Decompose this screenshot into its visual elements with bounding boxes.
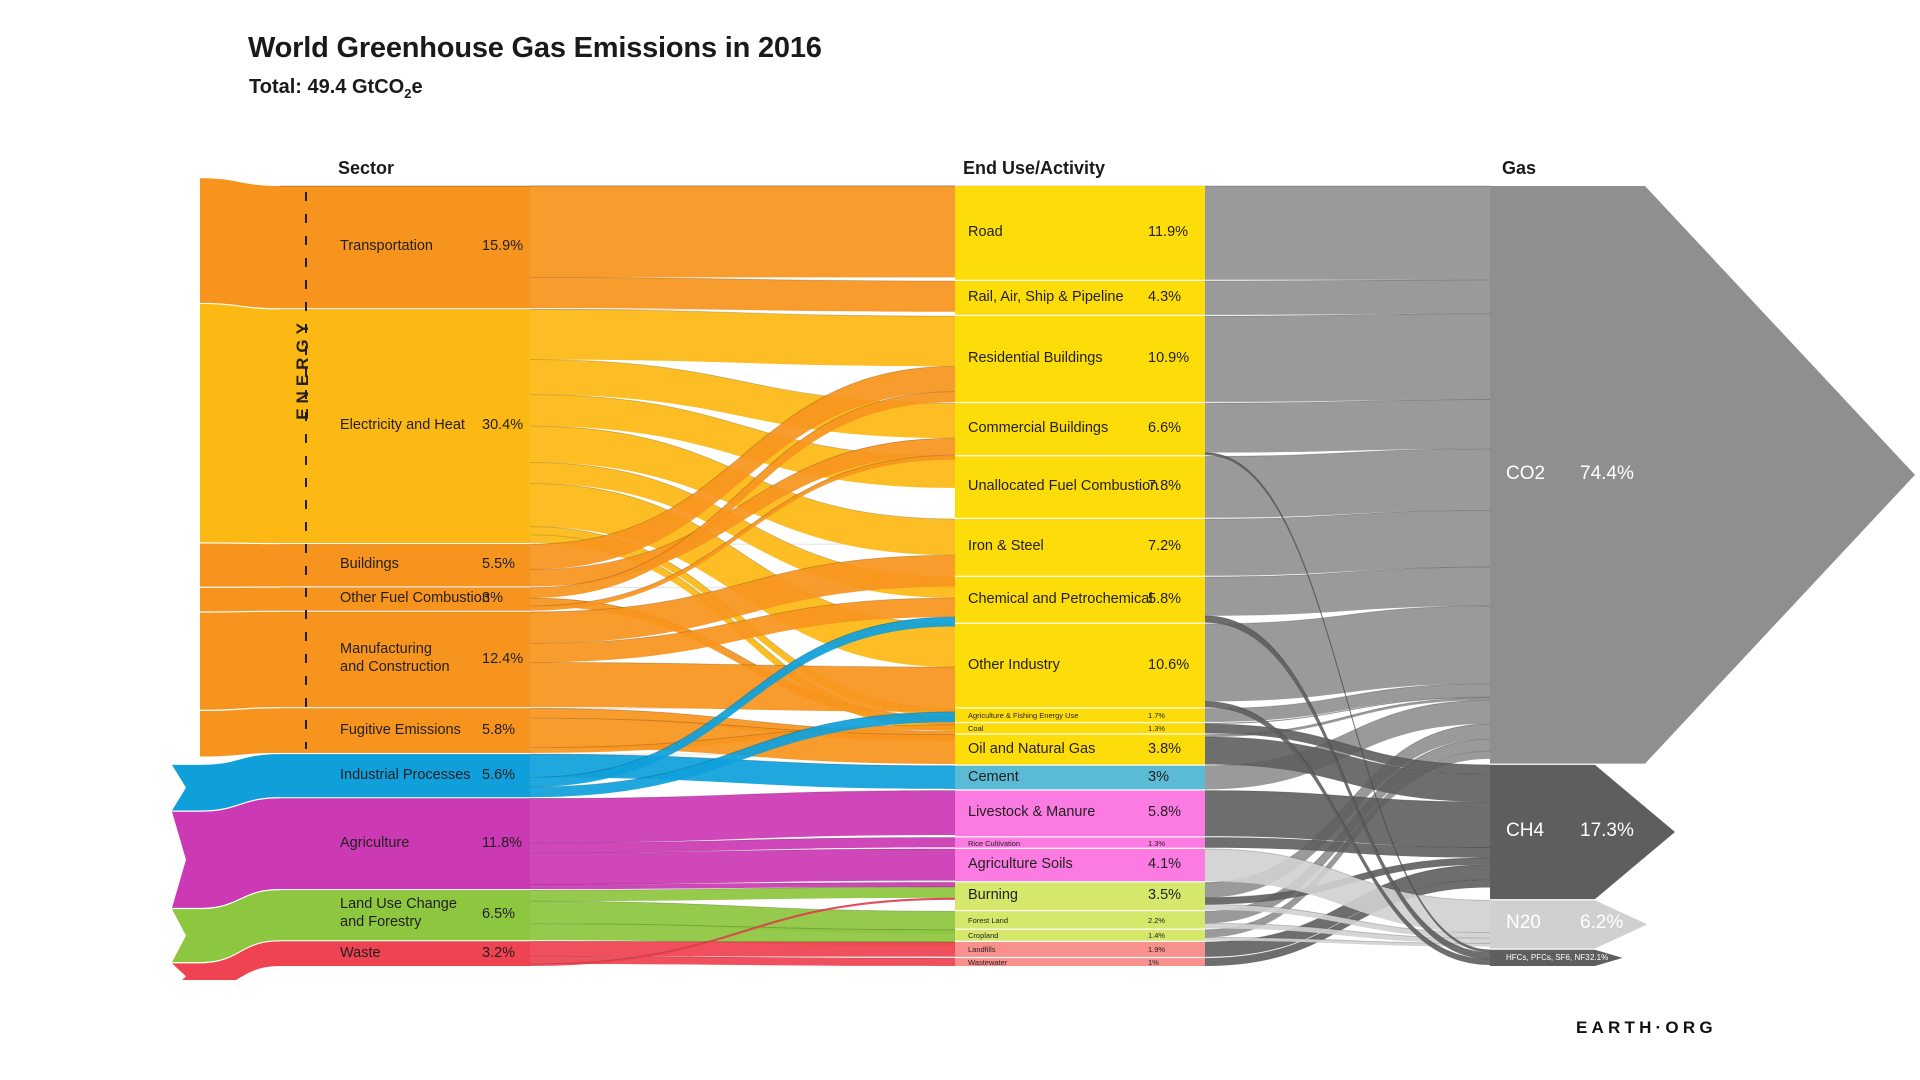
enduse-label-11: Cement: [968, 769, 1019, 785]
sector-label-7: Agriculture: [340, 835, 409, 851]
enduse-label-7: Other Industry: [968, 657, 1060, 673]
enduse-label-14: Agriculture Soils: [968, 856, 1073, 872]
energy-group-label: ENERGY: [293, 318, 313, 420]
sector-label-2: Buildings: [340, 556, 399, 572]
enduse-pct-5: 7.2%: [1148, 538, 1181, 554]
enduse-pct-2: 10.9%: [1148, 350, 1189, 366]
gas-label-0: CO2: [1506, 463, 1545, 485]
enduse-label-18: Landfills: [968, 945, 996, 954]
sankey-infographic: World Greenhouse Gas Emissions in 2016 T…: [0, 0, 1920, 1080]
sector-pct-3: 3%: [482, 590, 503, 606]
enduse-label-8: Agriculture & Fishing Energy Use: [968, 711, 1078, 720]
enduse-pct-14: 4.1%: [1148, 856, 1181, 872]
enduse-pct-11: 3%: [1148, 769, 1169, 785]
sector-label-8: Land Use Change: [340, 896, 457, 912]
gas-pct-1: 17.3%: [1580, 820, 1634, 842]
enduse-pct-8: 1.7%: [1148, 711, 1165, 720]
enduse-label-1: Rail, Air, Ship & Pipeline: [968, 289, 1124, 305]
enduse-pct-7: 10.6%: [1148, 657, 1189, 673]
enduse-pct-16: 2.2%: [1148, 916, 1165, 925]
sector-label-4: Manufacturing: [340, 641, 432, 657]
gas-pct-3: 2.1%: [1590, 953, 1608, 962]
enduse-label-5: Iron & Steel: [968, 538, 1044, 554]
sector-pct-1: 30.4%: [482, 417, 523, 433]
enduse-pct-4: 7.8%: [1148, 478, 1181, 494]
enduse-label-12: Livestock & Manure: [968, 804, 1095, 820]
enduse-label-4: Unallocated Fuel Combustion: [968, 478, 1158, 494]
earth-org-logo: EARTH·ORG: [1576, 1018, 1717, 1038]
sector-pct-8: 6.5%: [482, 906, 515, 922]
enduse-pct-6: 5.8%: [1148, 591, 1181, 607]
enduse-label-16: Forest Land: [968, 916, 1008, 925]
enduse-label-19: Wastewater: [968, 958, 1007, 967]
enduse-pct-19: 1%: [1148, 958, 1159, 967]
enduse-pct-3: 6.6%: [1148, 420, 1181, 436]
enduse-pct-10: 3.8%: [1148, 741, 1181, 757]
enduse-pct-0: 11.9%: [1148, 224, 1188, 240]
enduse-pct-15: 3.5%: [1148, 887, 1181, 903]
gas-pct-2: 6.2%: [1580, 912, 1623, 934]
sector-label-9: Waste: [340, 945, 381, 961]
sector-label-1: Electricity and Heat: [340, 417, 465, 433]
enduse-pct-18: 1.9%: [1148, 945, 1165, 954]
enduse-label-6: Chemical and Petrochemical: [968, 591, 1153, 607]
enduse-pct-17: 1.4%: [1148, 931, 1165, 940]
sector-label-0: Transportation: [340, 238, 433, 254]
gas-pct-0: 74.4%: [1580, 463, 1634, 485]
sector-pct-6: 5.6%: [482, 767, 515, 783]
sector-label2-4: and Construction: [340, 659, 450, 675]
enduse-label-13: Rice Cultivation: [968, 839, 1020, 848]
enduse-pct-13: 1.3%: [1148, 839, 1165, 848]
gas-label-2: N20: [1506, 912, 1541, 934]
sector-pct-7: 11.8%: [482, 835, 522, 851]
enduse-pct-12: 5.8%: [1148, 804, 1181, 820]
sector-pct-2: 5.5%: [482, 556, 515, 572]
sector-label-6: Industrial Processes: [340, 767, 471, 783]
sector-label2-8: and Forestry: [340, 914, 421, 930]
enduse-label-9: Coal: [968, 724, 983, 733]
enduse-label-10: Oil and Natural Gas: [968, 741, 1095, 757]
gas-label-3: HFCs, PFCs, SF6, NF3: [1506, 953, 1590, 962]
sector-label-5: Fugitive Emissions: [340, 722, 461, 738]
enduse-label-15: Burning: [968, 887, 1018, 903]
enduse-label-3: Commercial Buildings: [968, 420, 1108, 436]
sector-pct-4: 12.4%: [482, 651, 523, 667]
enduse-pct-1: 4.3%: [1148, 289, 1181, 305]
sector-label-3: Other Fuel Combustion: [340, 590, 490, 606]
gas-label-1: CH4: [1506, 820, 1544, 842]
enduse-label-0: Road: [968, 224, 1003, 240]
sector-pct-9: 3.2%: [482, 945, 515, 961]
sector-pct-0: 15.9%: [482, 238, 523, 254]
sector-pct-5: 5.8%: [482, 722, 515, 738]
enduse-pct-9: 1.3%: [1148, 724, 1165, 733]
enduse-label-2: Residential Buildings: [968, 350, 1103, 366]
sankey-canvas: [0, 0, 1920, 1080]
enduse-label-17: Cropland: [968, 931, 998, 940]
